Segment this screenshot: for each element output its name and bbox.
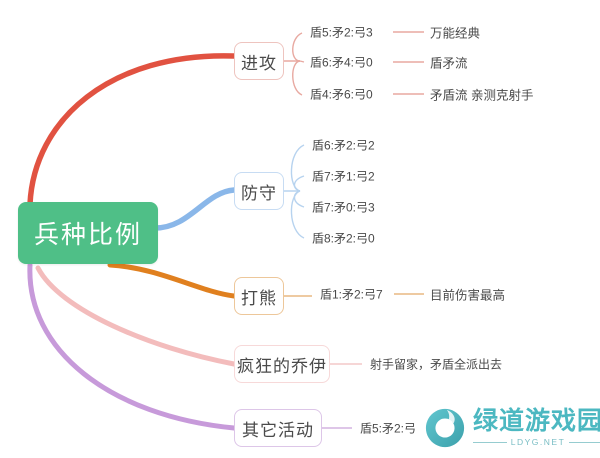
note-fight-bear-0: 目前伤害最高: [430, 285, 505, 304]
watermark-name: 绿道游戏园: [473, 409, 600, 434]
connector-crazy-joey: [38, 268, 234, 364]
note-attack-0: 万能经典: [430, 23, 480, 42]
branch-node-defense[interactable]: 防守: [234, 172, 284, 210]
leaf-branch-defense-2: [294, 191, 304, 207]
leaf-defense-2: 盾7:矛0:弓3: [312, 199, 375, 216]
leaf-branch-attack-1: [300, 61, 304, 62]
connector-defense: [155, 190, 234, 228]
leaf-fight-bear-0: 盾1:矛2:弓7: [320, 286, 383, 303]
root-node[interactable]: 兵种比例: [18, 202, 158, 264]
branch-node-crazy-joey[interactable]: 疯狂的乔伊: [234, 345, 330, 383]
branch-label-crazy-joey: 疯狂的乔伊: [237, 352, 327, 377]
branch-label-fight-bear: 打熊: [241, 284, 277, 309]
leaf-defense-1: 盾7:矛1:弓2: [312, 168, 375, 185]
branch-label-attack: 进攻: [241, 49, 277, 74]
leaf-defense-0: 盾6:矛2:弓2: [312, 137, 375, 154]
note-attack-2: 矛盾流 亲测克射手: [430, 85, 533, 104]
branch-node-fight-bear[interactable]: 打熊: [234, 277, 284, 315]
leaf-branch-defense-1: [294, 176, 304, 191]
watermark-rule-right: [569, 442, 600, 443]
watermark-domain: LDYG.NET: [511, 438, 566, 447]
leaf-crazy-joey-0: 射手留家，矛盾全派出去: [370, 356, 502, 373]
leaf-attack-2: 盾4:矛6:弓0: [310, 86, 373, 103]
connector-other-activities: [30, 265, 234, 428]
root-node-label: 兵种比例: [34, 215, 142, 251]
leaf-branch-defense-0: [291, 145, 304, 191]
branch-label-defense: 防守: [241, 179, 277, 204]
branch-node-attack[interactable]: 进攻: [234, 42, 284, 80]
branch-node-other-activities[interactable]: 其它活动: [234, 409, 322, 447]
leaf-defense-3: 盾8:矛2:弓0: [312, 230, 375, 247]
watermark-ring-icon: [424, 407, 466, 449]
leaf-branch-attack-2: [293, 61, 302, 95]
leaf-branch-defense-3: [291, 191, 304, 238]
leaf-attack-1: 盾6:矛4:弓0: [310, 54, 373, 71]
branch-label-other-activities: 其它活动: [242, 416, 314, 441]
leaf-branch-attack-0: [293, 33, 302, 61]
mindmap-canvas: 兵种比例 进攻 盾5:矛2:弓3 盾6:矛4:弓0 盾4:矛6:弓0 万能经典 …: [0, 0, 600, 458]
leaf-other-activities-0: 盾5:矛2:弓: [360, 420, 416, 437]
watermark-text: 绿道游戏园 LDYG.NET: [473, 409, 600, 447]
note-attack-1: 盾矛流: [430, 53, 468, 72]
connector-fight-bear: [110, 265, 234, 296]
leaf-attack-0: 盾5:矛2:弓3: [310, 24, 373, 41]
watermark: 绿道游戏园 LDYG.NET: [424, 402, 592, 454]
watermark-domain-row: LDYG.NET: [473, 438, 600, 447]
connector-attack: [30, 56, 234, 204]
watermark-rule-left: [473, 442, 507, 443]
